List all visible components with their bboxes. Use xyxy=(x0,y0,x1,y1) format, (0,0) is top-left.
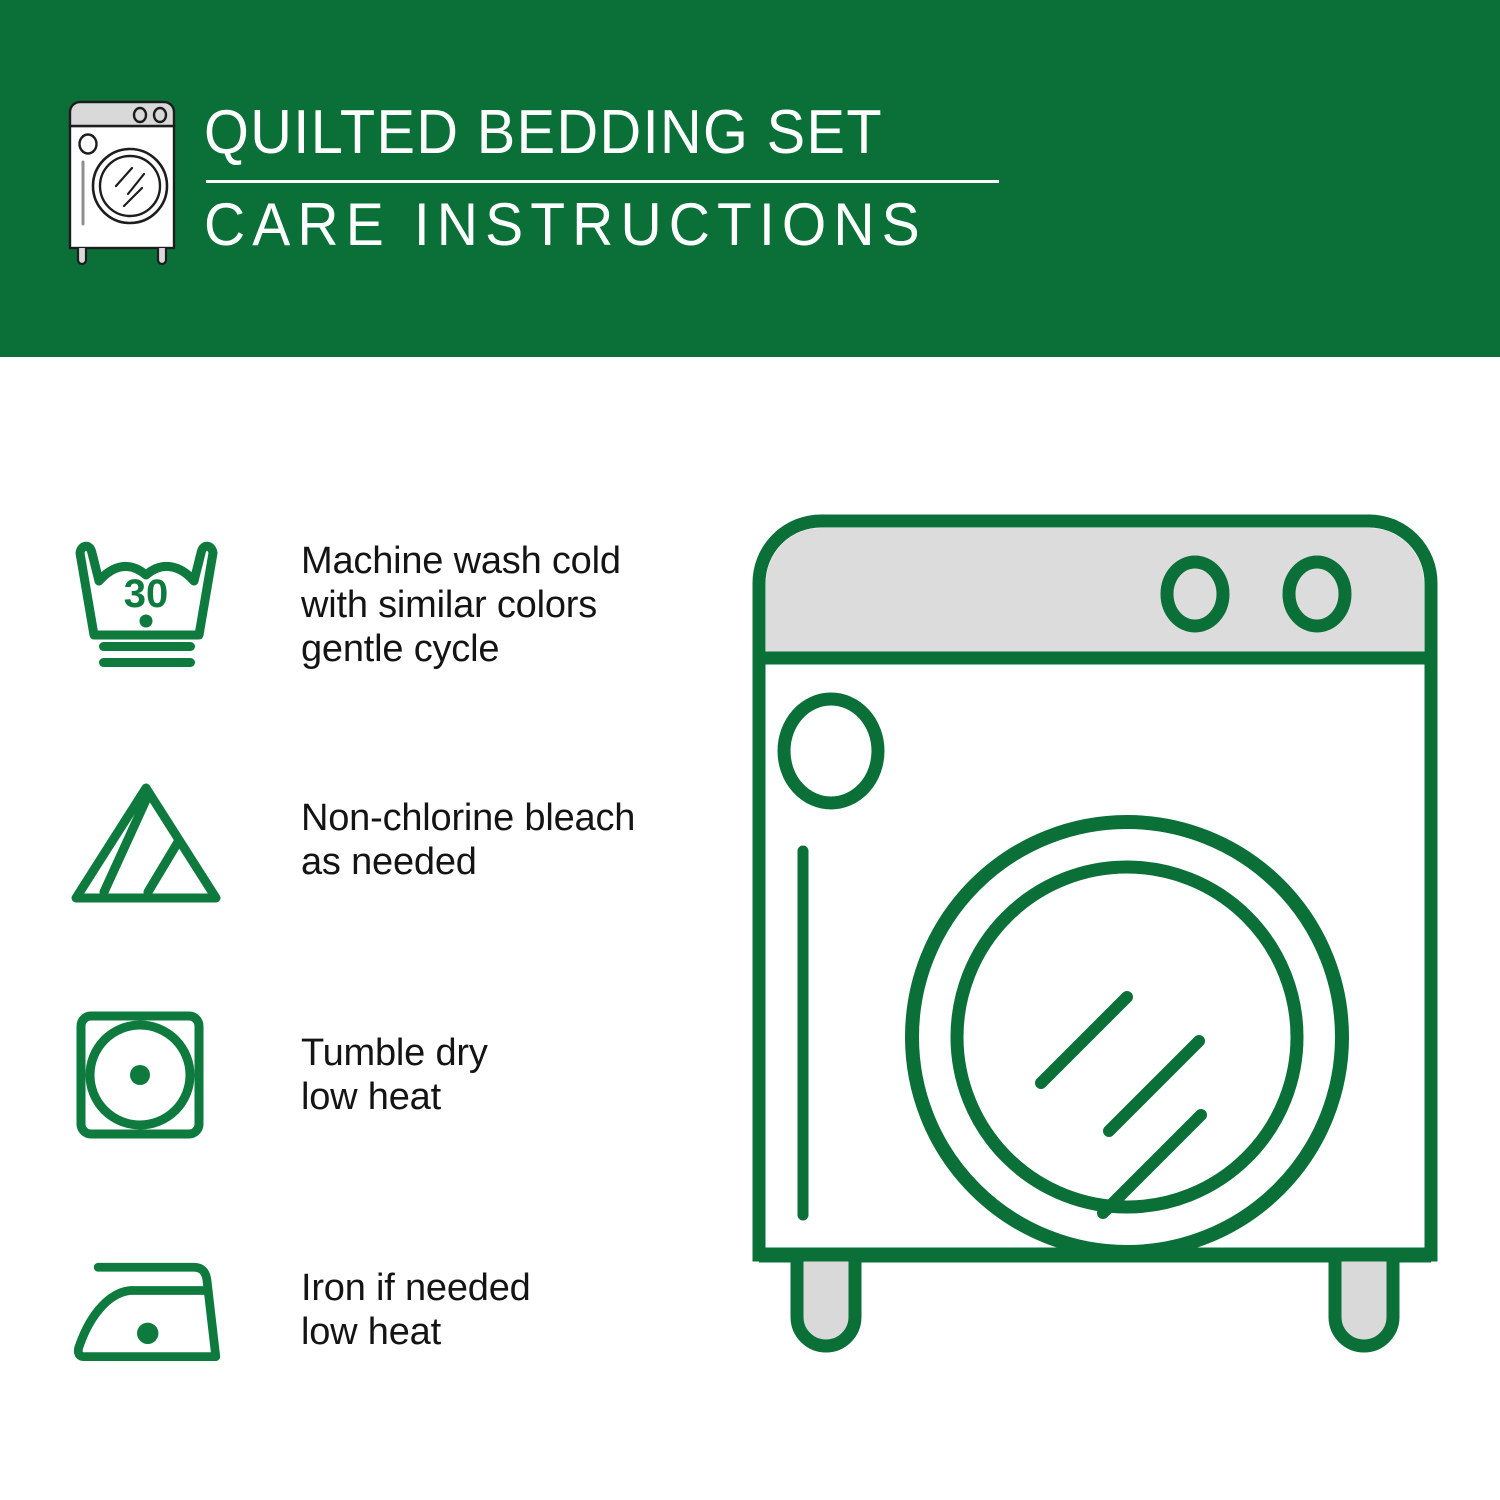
care-line: gentle cycle xyxy=(301,627,708,671)
care-line: Iron if needed xyxy=(301,1266,708,1310)
care-text-bleach: Non-chlorine bleach as needed xyxy=(301,796,708,884)
washer-leg-left xyxy=(797,1255,855,1346)
wash-temperature-label: 30 xyxy=(124,572,169,616)
care-line: low heat xyxy=(301,1310,708,1354)
care-text-iron: Iron if needed low heat xyxy=(301,1266,708,1354)
care-row-iron: Iron if needed low heat xyxy=(68,1222,708,1397)
care-text-machine-wash: Machine wash cold with similar colors ge… xyxy=(301,539,708,671)
care-instruction-list: 30 Machine wash cold with similar colors… xyxy=(68,517,708,1397)
care-row-tumble-dry: Tumble dry low heat xyxy=(68,987,708,1162)
care-line: Tumble dry xyxy=(301,1031,708,1075)
wash-tub-30-gentle-icon: 30 xyxy=(68,530,243,680)
washer-door-inner-ring xyxy=(957,867,1297,1207)
washer-dial-right xyxy=(1289,562,1345,626)
header-content: QUILTED BEDDING SET CARE INSTRUCTIONS xyxy=(58,96,1058,276)
care-row-machine-wash: 30 Machine wash cold with similar colors… xyxy=(68,517,708,692)
care-text-tumble-dry: Tumble dry low heat xyxy=(301,1031,708,1119)
washer-dial-left xyxy=(1167,562,1223,626)
washing-machine-icon xyxy=(58,96,186,268)
non-chlorine-bleach-triangle-icon xyxy=(68,765,243,915)
care-line: with similar colors xyxy=(301,583,708,627)
washer-detergent-knob xyxy=(784,699,878,803)
care-line: Machine wash cold xyxy=(301,539,708,583)
page-title: QUILTED BEDDING SET xyxy=(204,100,998,166)
care-line: as needed xyxy=(301,840,708,884)
title-divider xyxy=(206,180,999,183)
washer-leg-right xyxy=(1335,1255,1393,1346)
page-subtitle: CARE INSTRUCTIONS xyxy=(204,193,1015,257)
header-title-group: QUILTED BEDDING SET CARE INSTRUCTIONS xyxy=(204,96,1058,257)
tumble-dry-low-icon xyxy=(68,1000,243,1150)
care-row-bleach: Non-chlorine bleach as needed xyxy=(68,752,708,927)
washing-machine-illustration xyxy=(735,497,1455,1427)
care-line: Non-chlorine bleach xyxy=(301,796,708,840)
header-banner: QUILTED BEDDING SET CARE INSTRUCTIONS xyxy=(0,0,1500,357)
care-line: low heat xyxy=(301,1075,708,1119)
iron-low-heat-icon xyxy=(68,1235,243,1385)
content-area: 30 Machine wash cold with similar colors… xyxy=(0,357,1500,1500)
